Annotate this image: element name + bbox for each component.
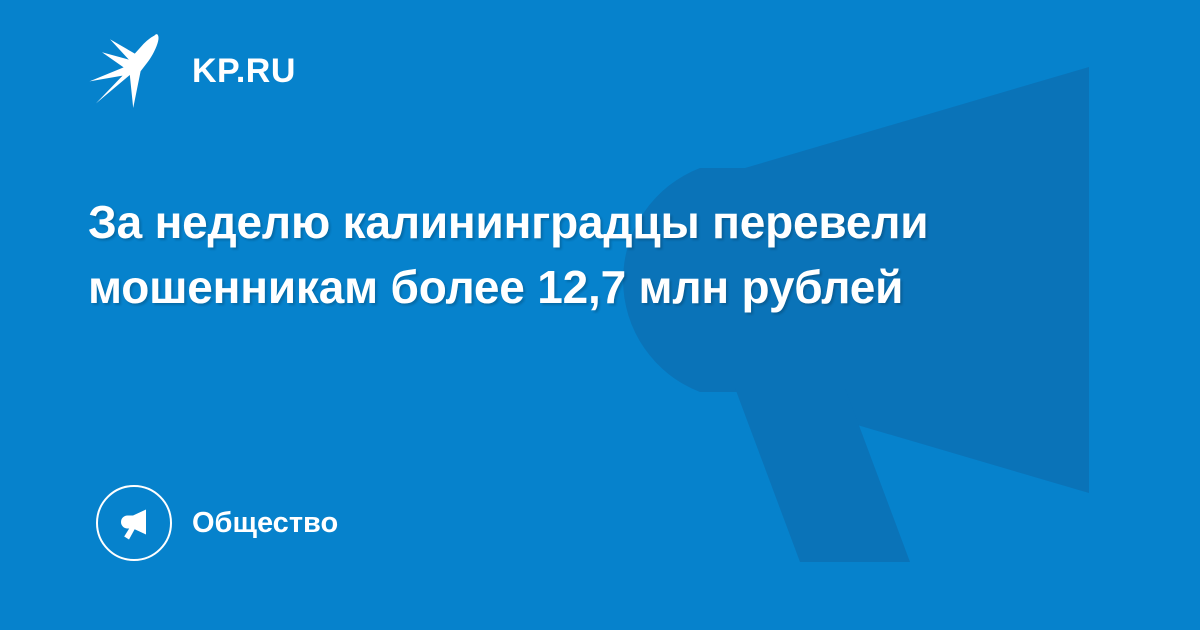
brand-name: KP.RU (192, 54, 296, 88)
megaphone-icon (96, 485, 172, 561)
article-headline: За неделю калининградцы перевели мошенни… (88, 190, 1098, 320)
category-badge[interactable]: Общество (96, 485, 338, 561)
swallow-bird-icon (88, 32, 170, 110)
brand-logo[interactable]: KP.RU (88, 32, 296, 110)
category-label: Общество (192, 509, 338, 538)
share-card: KP.RU За неделю калининградцы перевели м… (0, 0, 1200, 630)
